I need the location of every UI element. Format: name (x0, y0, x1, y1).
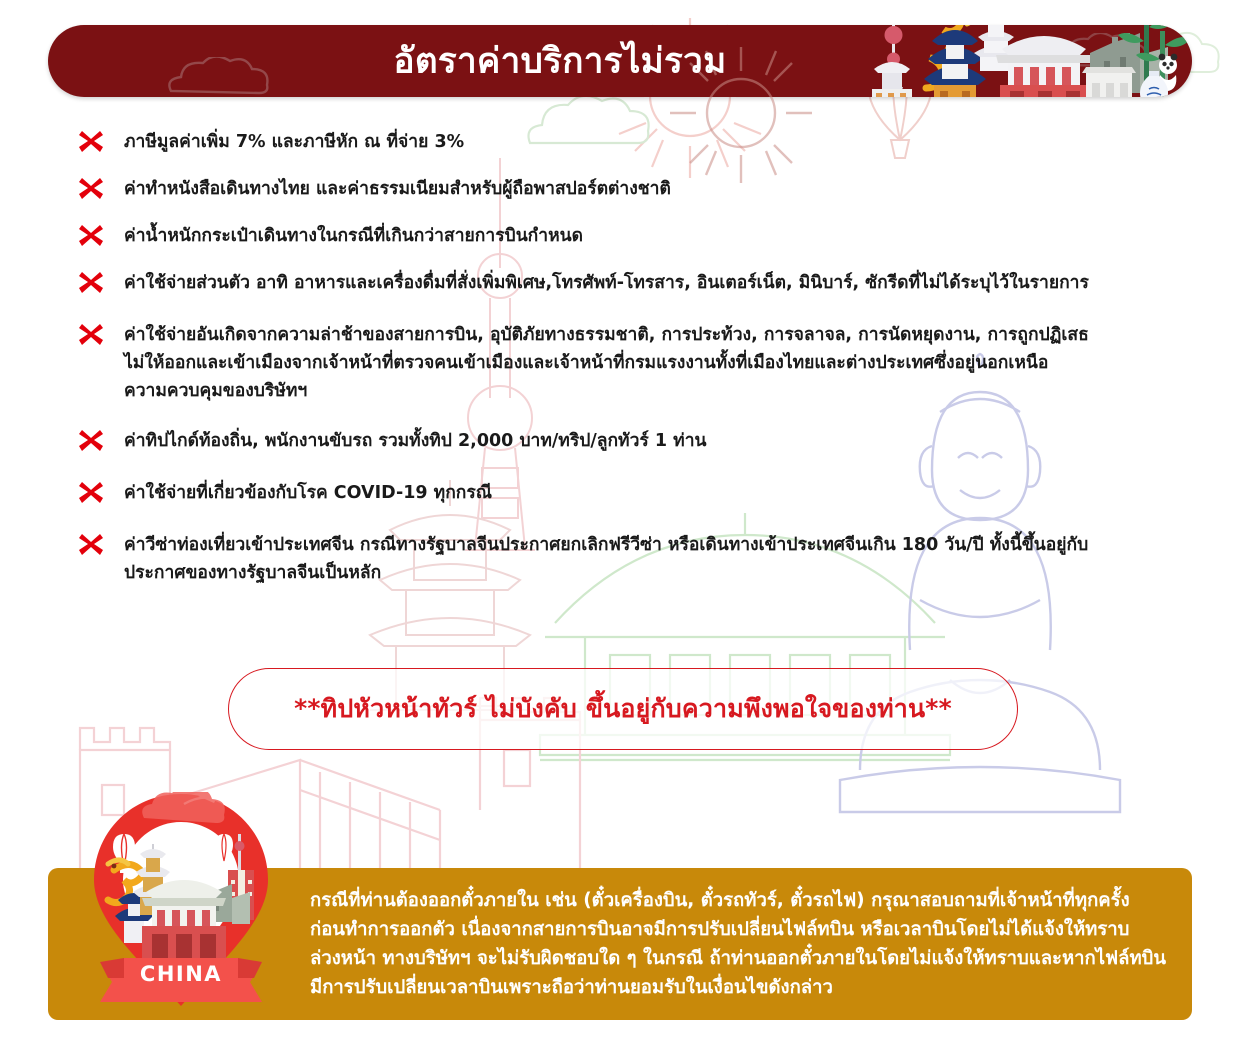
footer-line: มีการปรับเปลี่ยนเวลาบินเพราะถือว่าท่านยอ… (310, 973, 1170, 1002)
x-mark-icon (72, 531, 124, 557)
list-item-line: ค่าใช้จ่ายอันเกิดจากความล่าช้าของสายการบ… (124, 321, 1162, 349)
list-item-line: ค่าน้ำหนักกระเป๋าเดินทางในกรณีที่เกินกว่… (124, 222, 1162, 250)
list-item-line: ประกาศของทางรัฐบาลจีนเป็นหลัก (124, 559, 1162, 587)
x-mark-icon (72, 269, 124, 295)
header-bar: อัตราค่าบริการไม่รวม (48, 25, 1192, 97)
tip-notice-box: **ทิปหัวหน้าทัวร์ ไม่บังคับ ขึ้นอยู่กับค… (228, 668, 1018, 750)
forbidden-city-icon (142, 880, 226, 960)
list-item: ค่าวีซ่าท่องเที่ยวเข้าประเทศจีน กรณีทางร… (72, 531, 1162, 587)
footer-line: ล่วงหน้า ทางบริษัทฯ จะไม่รับผิดชอบใด ๆ ใ… (310, 944, 1170, 973)
footer-line: กรณีที่ท่านต้องออกตั๋วภายใน เช่น (ตั๋วเค… (310, 886, 1170, 915)
china-landmarks-illustration (868, 25, 1192, 97)
list-item: ค่าทำหนังสือเดินทางไทย และค่าธรรมเนียมสำ… (72, 175, 1162, 203)
badge-label: CHINA (140, 962, 222, 986)
x-mark-icon (72, 321, 124, 347)
list-item: ค่าใช้จ่ายส่วนตัว อาทิ อาหารและเครื่องดื… (72, 269, 1162, 297)
x-mark-icon (72, 479, 124, 505)
list-item-line: ค่าทิปไกด์ท้องถิ่น, พนักงานขับรถ รวมทั้ง… (124, 427, 1162, 455)
list-item: ค่าน้ำหนักกระเป๋าเดินทางในกรณีที่เกินกว่… (72, 222, 1162, 250)
list-item-line: ความควบคุมของบริษัทฯ (124, 377, 1162, 405)
list-item-line: ค่าใช้จ่ายที่เกี่ยวข้องกับโรค COVID-19 ท… (124, 479, 1162, 507)
list-item-line: ค่าวีซ่าท่องเที่ยวเข้าประเทศจีน กรณีทางร… (124, 531, 1162, 559)
list-item-line: ภาษีมูลค่าเพิ่ม 7% และภาษีหัก ณ ที่จ่าย … (124, 128, 1162, 156)
header: อัตราค่าบริการไม่รวม (48, 25, 1192, 97)
list-item: ค่าใช้จ่ายที่เกี่ยวข้องกับโรค COVID-19 ท… (72, 479, 1162, 507)
x-mark-icon (72, 222, 124, 248)
china-badge: CHINA (88, 792, 274, 1010)
forbidden-city-icon (996, 36, 1092, 97)
list-item-line: ไม่ให้ออกและเข้าเมืองจากเจ้าหน้าที่ตรวจค… (124, 349, 1162, 377)
list-item: ค่าใช้จ่ายอันเกิดจากความล่าช้าของสายการบ… (72, 321, 1162, 405)
list-item: ค่าทิปไกด์ท้องถิ่น, พนักงานขับรถ รวมทั้ง… (72, 427, 1162, 455)
x-mark-icon (72, 175, 124, 201)
footer-line: ก่อนทำการออกตัว เนื่องจากสายการบินอาจมีก… (310, 915, 1170, 944)
promo-page: อัตราค่าบริการไม่รวม (0, 0, 1240, 1055)
footer-notice-text: กรณีที่ท่านต้องออกตั๋วภายใน เช่น (ตั๋วเค… (310, 886, 1170, 1002)
stone-gate-icon (1082, 67, 1136, 97)
list-item-line: ค่าทำหนังสือเดินทางไทย และค่าธรรมเนียมสำ… (124, 175, 1162, 203)
list-item: ภาษีมูลค่าเพิ่ม 7% และภาษีหัก ณ ที่จ่าย … (72, 128, 1162, 156)
x-mark-icon (72, 128, 124, 154)
exclusions-list: ภาษีมูลค่าเพิ่ม 7% และภาษีหัก ณ ที่จ่าย … (72, 128, 1162, 606)
tip-notice-text: **ทิปหัวหน้าทัวร์ ไม่บังคับ ขึ้นอยู่กับค… (294, 689, 952, 729)
x-mark-icon (72, 427, 124, 453)
pagoda-icon (872, 62, 912, 97)
list-item-line: ค่าใช้จ่ายส่วนตัว อาทิ อาหารและเครื่องดื… (124, 269, 1162, 297)
